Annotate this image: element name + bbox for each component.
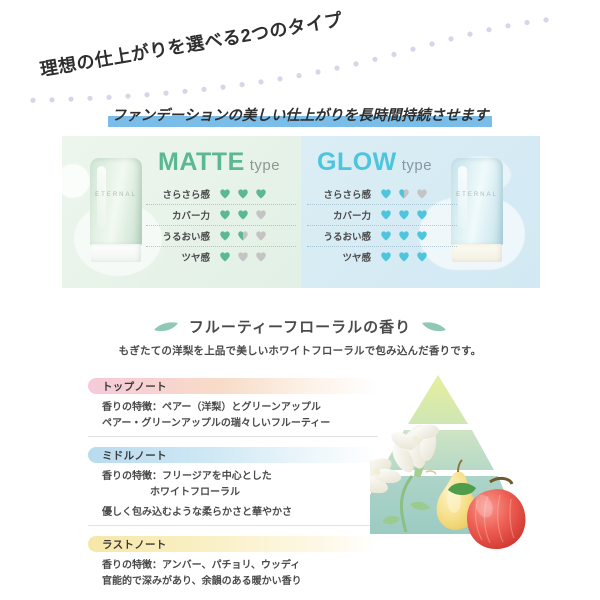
- rating-hearts: [380, 209, 428, 221]
- tube-cap: [452, 244, 502, 262]
- tube-body: ETERNAL: [451, 158, 503, 246]
- fragrance-pyramid-illustration: [370, 372, 590, 572]
- tube-body: ETERNAL: [90, 158, 142, 246]
- note-line: 香りの特徴：ペアー（洋梨）とグリーンアップル: [102, 400, 378, 416]
- note-lines-top: 香りの特徴：ペアー（洋梨）とグリーンアップル ペアー・グリーンアップルの瑞々しい…: [88, 394, 378, 432]
- rating-row: カバー力: [146, 204, 296, 225]
- note-lines-last: 香りの特徴：アンバー、パチョリ、ウッディ 官能的で深みがあり、余韻のある暖かい香…: [88, 552, 378, 590]
- note-title-last: ラストノート: [88, 536, 378, 552]
- heart-icon-full: [219, 251, 231, 263]
- heart-icon-empty: [237, 251, 249, 263]
- rating-label: ツヤ感: [146, 250, 219, 264]
- heart-icon-empty: [255, 209, 267, 221]
- type-comparison-panels: ETERNAL MATTEtype さらさら感 カバー力 うるおい感: [62, 136, 540, 288]
- rating-label: うるおい感: [146, 229, 219, 243]
- divider: [88, 525, 378, 526]
- headline-section: 理想の仕上がりを選べる2つのタイプ: [0, 0, 600, 110]
- note-block-last: ラストノート 香りの特徴：アンバー、パチョリ、ウッディ 官能的で深みがあり、余韻…: [88, 536, 378, 590]
- heart-icon-full: [219, 188, 231, 200]
- heart-icon-full: [237, 188, 249, 200]
- note-line: 香りの特徴：フリージアを中心とした: [102, 469, 378, 485]
- rating-label: さらさら感: [146, 187, 219, 201]
- fragrance-description: もぎたての洋梨を上品で美しいホワイトフローラルで包み込んだ香りです。: [0, 343, 600, 358]
- note-line: 官能的で深みがあり、余韻のある暖かい香り: [102, 574, 378, 590]
- rating-row: うるおい感: [307, 225, 457, 246]
- panel-title-main: GLOW: [317, 148, 397, 176]
- rating-row: ツヤ感: [146, 246, 296, 267]
- rating-hearts: [380, 251, 428, 263]
- heart-icon-full: [380, 230, 392, 242]
- heart-icon-empty: [416, 188, 428, 200]
- note-lines-middle: 香りの特徴：フリージアを中心とした ホワイトフローラル 優しく包み込むような柔ら…: [88, 463, 378, 521]
- fragrance-heading: フルーティーフローラルの香り: [189, 316, 411, 337]
- divider: [88, 436, 378, 437]
- rating-label: ツヤ感: [307, 250, 380, 264]
- heart-icon-empty: [255, 230, 267, 242]
- rating-hearts: [219, 251, 267, 263]
- note-line: 優しく包み込むような柔らかさと華やかさ: [102, 505, 378, 521]
- rating-row: さらさら感: [307, 184, 457, 204]
- heart-icon-full: [398, 209, 410, 221]
- note-title-middle: ミドルノート: [88, 447, 378, 463]
- heart-icon-full: [380, 251, 392, 263]
- panel-title-sub: type: [402, 157, 432, 174]
- heart-icon-full: [380, 209, 392, 221]
- heart-icon-full: [380, 188, 392, 200]
- rating-hearts: [219, 230, 267, 242]
- rating-label: カバー力: [146, 208, 219, 222]
- rating-row: ツヤ感: [307, 246, 457, 267]
- panel-matte: ETERNAL MATTEtype さらさら感 カバー力 うるおい感: [62, 136, 301, 288]
- heart-icon-full: [416, 209, 428, 221]
- heart-icon-full: [416, 230, 428, 242]
- panel-glow: ETERNAL GLOWtype さらさら感 カバー力 うるおい感: [301, 136, 540, 288]
- rating-hearts: [380, 188, 428, 200]
- rating-table-matte: さらさら感 カバー力 うるおい感 ツヤ感: [146, 184, 296, 267]
- rating-hearts: [219, 209, 267, 221]
- rating-table-glow: さらさら感 カバー力 うるおい感 ツヤ感: [307, 184, 457, 267]
- fragrance-heading-row: フルーティーフローラルの香り: [0, 316, 600, 338]
- panel-title-sub: type: [250, 157, 280, 174]
- heart-icon-full: [219, 209, 231, 221]
- panel-title-glow: GLOWtype: [317, 150, 432, 175]
- heart-icon-full: [398, 251, 410, 263]
- rating-hearts: [380, 230, 428, 242]
- rating-label: カバー力: [307, 208, 380, 222]
- heart-icon-full: [237, 209, 249, 221]
- panel-title-matte: MATTEtype: [158, 150, 280, 175]
- note-block-middle: ミドルノート 香りの特徴：フリージアを中心とした ホワイトフローラル 優しく包み…: [88, 447, 378, 526]
- leaf-icon: [153, 321, 179, 333]
- note-line: ホワイトフローラル: [102, 485, 378, 501]
- tube-brand-label: ETERNAL: [90, 192, 142, 198]
- heart-icon-full: [416, 251, 428, 263]
- heart-icon-full: [219, 230, 231, 242]
- panel-title-main: MATTE: [158, 148, 245, 176]
- subheadline-row: ファンデーションの美しい仕上がりを長時間持続させます: [0, 104, 600, 127]
- fragrance-notes-list: トップノート 香りの特徴：ペアー（洋梨）とグリーンアップル ペアー・グリーンアッ…: [88, 378, 378, 590]
- heart-icon-full: [255, 188, 267, 200]
- rating-row: さらさら感: [146, 184, 296, 204]
- note-title-top: トップノート: [88, 378, 378, 394]
- heart-icon-full: [398, 230, 410, 242]
- product-tube-matte: ETERNAL: [90, 158, 142, 262]
- bokeh-circle: [62, 164, 90, 198]
- heart-icon-half: [398, 188, 410, 200]
- rating-row: うるおい感: [146, 225, 296, 246]
- rating-label: うるおい感: [307, 229, 380, 243]
- heart-icon-empty: [255, 251, 267, 263]
- note-block-top: トップノート 香りの特徴：ペアー（洋梨）とグリーンアップル ペアー・グリーンアッ…: [88, 378, 378, 437]
- leaf-icon: [421, 321, 447, 333]
- tube-cap: [91, 244, 141, 262]
- page-title: 理想の仕上がりを選べる2つのタイプ: [38, 6, 345, 82]
- subheadline: ファンデーションの美しい仕上がりを長時間持続させます: [108, 104, 493, 127]
- tube-brand-label: ETERNAL: [451, 192, 503, 198]
- heart-icon-half: [237, 230, 249, 242]
- rating-hearts: [219, 188, 267, 200]
- rating-row: カバー力: [307, 204, 457, 225]
- rating-label: さらさら感: [307, 187, 380, 201]
- product-tube-glow: ETERNAL: [451, 158, 503, 262]
- product-feature-page: 理想の仕上がりを選べる2つのタイプ ファンデーションの美しい仕上がりを長時間持続…: [0, 0, 600, 600]
- note-line: ペアー・グリーンアップルの瑞々しいフルーティー: [102, 416, 378, 432]
- note-line: 香りの特徴：アンバー、パチョリ、ウッディ: [102, 558, 378, 574]
